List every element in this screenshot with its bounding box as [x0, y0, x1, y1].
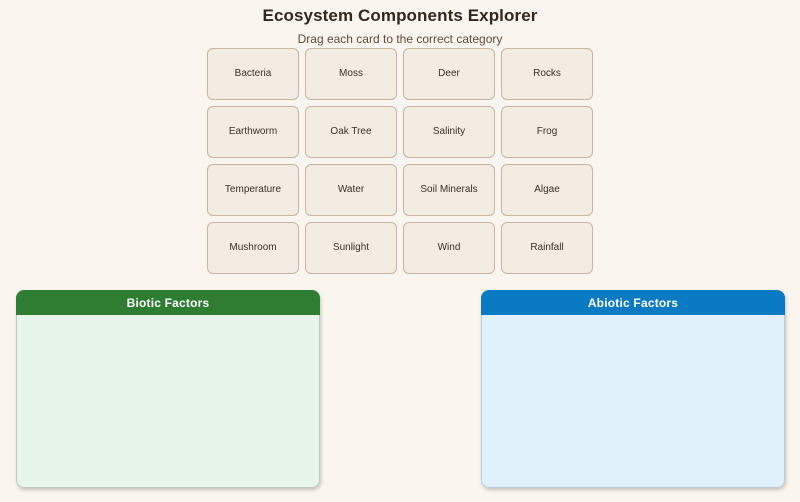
- draggable-card[interactable]: Earthworm: [207, 106, 299, 158]
- draggable-card[interactable]: Rainfall: [501, 222, 593, 274]
- draggable-card[interactable]: Deer: [403, 48, 495, 100]
- page-title: Ecosystem Components Explorer: [0, 6, 800, 26]
- drop-zone-abiotic-title: Abiotic Factors: [481, 290, 785, 315]
- drop-zone-biotic-body[interactable]: [16, 315, 320, 488]
- drop-zone-abiotic-body[interactable]: [481, 315, 785, 488]
- draggable-card[interactable]: Temperature: [207, 164, 299, 216]
- draggable-card[interactable]: Algae: [501, 164, 593, 216]
- draggable-card[interactable]: Bacteria: [207, 48, 299, 100]
- draggable-card[interactable]: Rocks: [501, 48, 593, 100]
- drop-zone-biotic-title: Biotic Factors: [16, 290, 320, 315]
- page-subtitle: Drag each card to the correct category: [0, 32, 800, 46]
- draggable-card[interactable]: Water: [305, 164, 397, 216]
- card-tray: Bacteria Moss Deer Rocks Earthworm Oak T…: [207, 48, 593, 274]
- drop-zone-abiotic[interactable]: Abiotic Factors: [481, 290, 785, 488]
- draggable-card[interactable]: Mushroom: [207, 222, 299, 274]
- draggable-card[interactable]: Soil Minerals: [403, 164, 495, 216]
- draggable-card[interactable]: Salinity: [403, 106, 495, 158]
- draggable-card[interactable]: Wind: [403, 222, 495, 274]
- draggable-card[interactable]: Oak Tree: [305, 106, 397, 158]
- draggable-card[interactable]: Frog: [501, 106, 593, 158]
- draggable-card[interactable]: Moss: [305, 48, 397, 100]
- drop-zone-biotic[interactable]: Biotic Factors: [16, 290, 320, 488]
- draggable-card[interactable]: Sunlight: [305, 222, 397, 274]
